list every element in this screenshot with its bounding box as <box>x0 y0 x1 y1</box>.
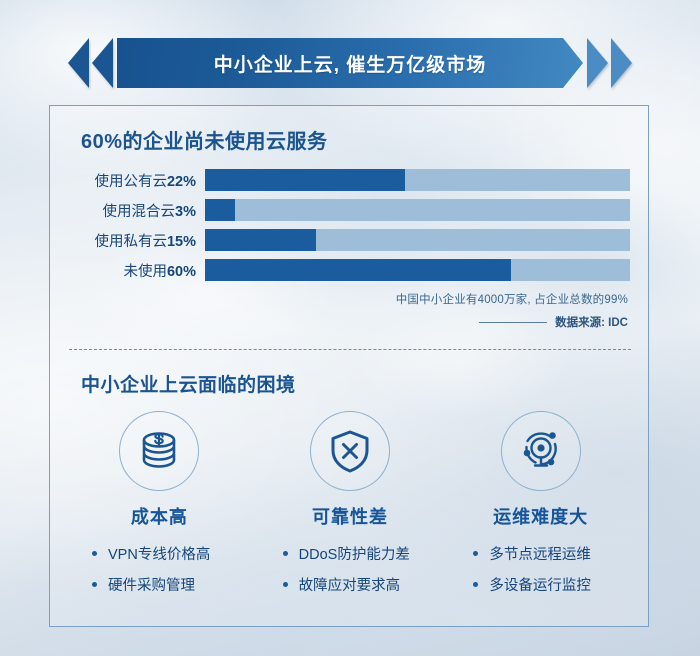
bullet-dot-icon <box>283 551 288 556</box>
chevron-right-group <box>587 38 632 88</box>
pain-column-title: 运维难度大 <box>493 503 588 529</box>
chevron-left-icon <box>92 38 113 88</box>
bullet-text: 多设备运行监控 <box>489 574 591 595</box>
coin-stack-dollar-icon <box>119 411 199 491</box>
bullet-dot-icon <box>283 582 288 587</box>
network-nodes-icon <box>501 411 581 491</box>
banner-title: 中小企业上云, 催生万亿级市场 <box>214 50 487 77</box>
content-card: 60%的企业尚未使用云服务 使用公有云22% 使用混合云3% 使用私有云15% <box>49 105 649 627</box>
chart-heading: 60%的企业尚未使用云服务 <box>81 125 328 154</box>
bullet-dot-icon <box>92 551 97 556</box>
bar-label-text: 未使用 <box>123 264 167 280</box>
pain-heading: 中小企业上云面临的困境 <box>81 370 296 397</box>
bar-row: 使用私有云15% <box>72 229 630 251</box>
chart-footnote-area: 中国中小企业有4000万家, 占企业总数的99% 数据来源: IDC <box>396 291 628 330</box>
bullet-text: 硬件采购管理 <box>108 574 195 595</box>
bar-row: 未使用60% <box>72 259 630 281</box>
bar-track <box>205 199 630 221</box>
bar-track <box>205 229 630 251</box>
bar-label-text: 使用私有云 <box>94 234 167 250</box>
chevron-left-group <box>68 38 113 88</box>
pain-columns: 成本高 VPN专线价格高 硬件采购管理 可靠性差 <box>64 411 636 605</box>
bullet-text: 多节点远程运维 <box>489 543 591 564</box>
pain-column-title: 可靠性差 <box>312 503 388 529</box>
shield-x-icon <box>310 411 390 491</box>
bar-label-text: 使用混合云 <box>103 204 176 220</box>
bullet-dot-icon <box>92 582 97 587</box>
bar-row: 使用混合云3% <box>72 199 630 221</box>
bar-label: 未使用60% <box>72 260 205 281</box>
pain-column-reliability: 可靠性差 DDoS防护能力差 故障应对要求高 <box>255 411 446 605</box>
bar-row: 使用公有云22% <box>72 169 630 191</box>
list-item: 多设备运行监控 <box>473 574 636 595</box>
bar-fill <box>205 229 316 251</box>
list-item: DDoS防护能力差 <box>283 543 446 564</box>
bar-label-value: 60% <box>167 264 196 280</box>
list-item: VPN专线价格高 <box>92 543 255 564</box>
pain-column-title: 成本高 <box>131 503 188 529</box>
source-rule <box>479 322 547 323</box>
bar-fill <box>205 259 511 281</box>
bar-label: 使用公有云22% <box>72 170 205 191</box>
pain-bullet-list: 多节点远程运维 多设备运行监控 <box>445 543 636 605</box>
pain-bullet-list: DDoS防护能力差 故障应对要求高 <box>255 543 446 605</box>
section-divider <box>69 349 631 350</box>
chart-source-line: 数据来源: IDC <box>396 314 628 330</box>
pain-bullet-list: VPN专线价格高 硬件采购管理 <box>64 543 255 605</box>
chevron-left-icon <box>68 38 89 88</box>
bullet-text: 故障应对要求高 <box>299 574 401 595</box>
bar-label-value: 3% <box>175 204 196 220</box>
bar-label: 使用私有云15% <box>72 230 205 251</box>
list-item: 多节点远程运维 <box>473 543 636 564</box>
bullet-dot-icon <box>473 551 478 556</box>
bar-fill <box>205 169 405 191</box>
title-banner: 中小企业上云, 催生万亿级市场 <box>0 38 700 88</box>
list-item: 故障应对要求高 <box>283 574 446 595</box>
bar-label-value: 22% <box>167 174 196 190</box>
bar-label-text: 使用公有云 <box>94 174 167 190</box>
list-item: 硬件采购管理 <box>92 574 255 595</box>
chevron-right-icon <box>587 38 608 88</box>
bullet-text: DDoS防护能力差 <box>299 543 410 564</box>
chevron-right-icon <box>611 38 632 88</box>
bullet-dot-icon <box>473 582 478 587</box>
pain-column-operations: 运维难度大 多节点远程运维 多设备运行监控 <box>445 411 636 605</box>
bullet-text: VPN专线价格高 <box>108 543 210 564</box>
bar-fill <box>205 199 235 221</box>
bar-label: 使用混合云3% <box>72 200 205 221</box>
bar-label-value: 15% <box>167 234 196 250</box>
chart-source: 数据来源: IDC <box>555 314 628 330</box>
banner-plate: 中小企业上云, 催生万亿级市场 <box>117 38 583 88</box>
pain-column-cost: 成本高 VPN专线价格高 硬件采购管理 <box>64 411 255 605</box>
bar-track <box>205 169 630 191</box>
bar-track <box>205 259 630 281</box>
chart-note: 中国中小企业有4000万家, 占企业总数的99% <box>396 291 628 307</box>
bar-chart: 使用公有云22% 使用混合云3% 使用私有云15% 未使用60% <box>72 169 630 289</box>
